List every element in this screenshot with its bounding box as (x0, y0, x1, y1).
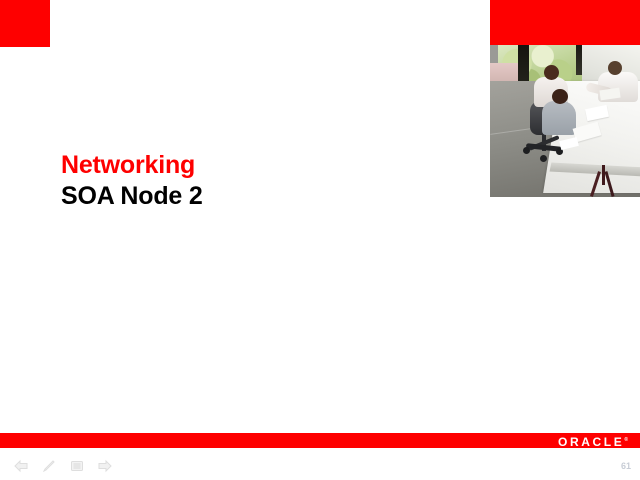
person-seated-body (542, 101, 576, 135)
presentation-slide: Networking SOA Node 2 ORACLE® (0, 0, 640, 480)
top-left-red-block (0, 0, 50, 47)
footer-red-bar (0, 433, 640, 448)
pillar-secondary (576, 45, 582, 75)
office-chair-wheel (523, 147, 530, 154)
slide-title-block: Networking SOA Node 2 (61, 150, 461, 212)
pen-icon[interactable] (41, 459, 57, 473)
office-chair-wheel (540, 155, 547, 162)
left-arrow-icon[interactable] (13, 459, 29, 473)
right-arrow-icon[interactable] (97, 459, 113, 473)
trademark-symbol: ® (624, 437, 628, 443)
page-subtitle: SOA Node 2 (61, 181, 461, 212)
menu-icon[interactable] (69, 459, 85, 473)
office-meeting-photo (490, 45, 640, 197)
top-right-red-block (490, 0, 640, 45)
oracle-logo: ORACLE® (558, 434, 628, 449)
oracle-wordmark: ORACLE (558, 435, 624, 449)
page-title: Networking (61, 150, 461, 181)
slideshow-nav-controls[interactable] (13, 459, 113, 473)
person-across-head (608, 61, 622, 75)
person-standing-head (544, 65, 559, 80)
table-leg (602, 165, 605, 185)
person-seated-head (552, 89, 568, 104)
page-number: 61 (621, 461, 631, 472)
